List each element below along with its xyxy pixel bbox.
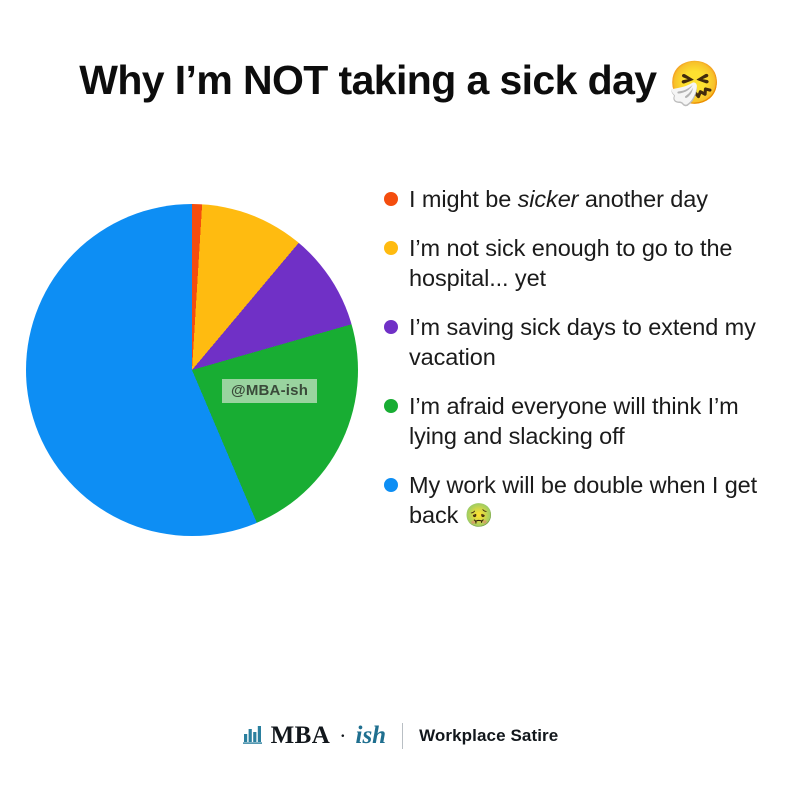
- meme-card: Why I’m NOT taking a sick day 🤧 @MBA-ish…: [0, 0, 800, 808]
- footer: MBA · ish Workplace Satire: [0, 722, 800, 750]
- footer-divider: [402, 723, 403, 749]
- legend-item-label: I’m not sick enough to go to the hospita…: [409, 233, 784, 293]
- brand-logo[interactable]: MBA · ish: [242, 722, 386, 750]
- legend-item[interactable]: I’m saving sick days to extend my vacati…: [384, 312, 784, 372]
- nauseated-face-icon: 🤢: [465, 502, 494, 528]
- pie-disc: [26, 204, 358, 536]
- bar-chart-icon: [242, 723, 264, 750]
- legend-color-swatch: [384, 478, 398, 492]
- legend-color-swatch: [384, 192, 398, 206]
- legend-emphasis: sicker: [518, 186, 579, 212]
- pie-chart: @MBA-ish: [26, 204, 358, 536]
- legend-item[interactable]: I’m not sick enough to go to the hospita…: [384, 233, 784, 293]
- chart-legend: I might be sicker another dayI’m not sic…: [384, 184, 784, 530]
- legend-item[interactable]: I might be sicker another day: [384, 184, 784, 214]
- title-text: Why I’m NOT taking a sick day: [79, 58, 656, 103]
- legend-item[interactable]: My work will be double when I get back 🤢: [384, 470, 784, 530]
- brand-separator: ·: [339, 723, 346, 749]
- legend-item-label: I’m afraid everyone will think I’m lying…: [409, 391, 784, 451]
- legend-color-swatch: [384, 399, 398, 413]
- brand-name: MBA: [271, 722, 331, 750]
- page-title: Why I’m NOT taking a sick day 🤧: [0, 58, 800, 103]
- legend-item-label: I might be sicker another day: [409, 184, 708, 214]
- brand-suffix: ish: [356, 722, 387, 750]
- legend-item-label: My work will be double when I get back 🤢: [409, 470, 784, 530]
- legend-color-swatch: [384, 320, 398, 334]
- legend-item-label: I’m saving sick days to extend my vacati…: [409, 312, 784, 372]
- sneezing-face-icon: 🤧: [668, 62, 720, 104]
- watermark-handle: @MBA-ish: [222, 379, 317, 403]
- legend-item[interactable]: I’m afraid everyone will think I’m lying…: [384, 391, 784, 451]
- footer-tagline: Workplace Satire: [419, 726, 558, 746]
- chart-area: @MBA-ish I might be sicker another dayI’…: [0, 170, 800, 590]
- legend-color-swatch: [384, 241, 398, 255]
